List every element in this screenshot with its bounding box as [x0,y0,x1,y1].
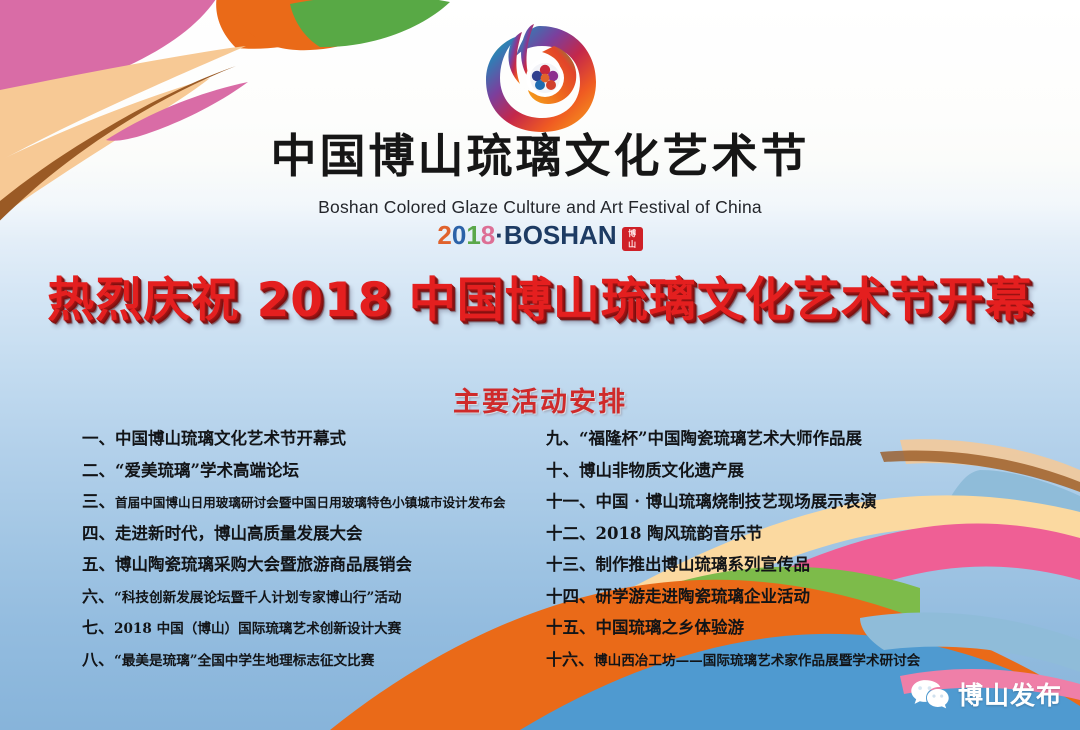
item-number: 十六、 [546,644,594,676]
list-item: 五、 博山陶瓷琉璃采购大会暨旅游商品展销会 [82,549,552,581]
item-number: 七、 [82,612,114,644]
list-item: 十三、 制作推出博山琉璃系列宣传品 [546,549,1046,581]
list-item: 九、 “福隆杯”中国陶瓷琉璃艺术大师作品展 [546,423,1046,455]
item-number: 十、 [546,455,579,487]
wechat-account-name: 博山发布 [958,676,1062,712]
item-text: 博山西冶工坊——国际琉璃艺术家作品展暨学术研讨会 [594,646,920,678]
list-item: 十二、 2018 陶风琉韵音乐节 [546,518,1046,550]
item-number: 九、 [546,423,579,455]
item-number: 十四、 [546,581,596,613]
city-label: ·BOSHAN [495,220,616,250]
item-text: 中国博山琉璃文化艺术节开幕式 [115,423,346,455]
item-number: 三、 [82,486,115,518]
program-subheading: 主要活动安排 [0,380,1080,419]
item-number: 六、 [82,581,114,613]
wechat-account-badge[interactable]: 博山发布 [910,676,1062,712]
list-item: 十一、 中国 · 博山琉璃烧制技艺现场展示表演 [546,486,1046,518]
festival-chinese-title: 中国博山琉璃文化艺术节 [0,133,1080,179]
program-list: 一、 中国博山琉璃文化艺术节开幕式 二、 “爱美琉璃”学术高端论坛 三、 首届中… [0,423,1080,673]
list-item: 十、 博山非物质文化遗产展 [546,455,1046,487]
item-text: 中国 · 博山琉璃烧制技艺现场展示表演 [596,486,877,518]
list-item: 十四、 研学游走进陶瓷琉璃企业活动 [546,581,1046,613]
item-text: 中国琉璃之乡体验游 [596,612,745,644]
festival-english-title: Boshan Colored Glaze Culture and Art Fes… [0,197,1080,218]
item-text: 首届中国博山日用玻璃研讨会暨中国日用玻璃特色小镇城市设计发布会 [115,487,505,519]
list-item: 十五、 中国琉璃之乡体验游 [546,612,1046,644]
festival-logo [476,18,604,136]
wechat-icon [910,678,950,710]
flame-swirl-icon [476,18,604,136]
year-digit-4: 8 [481,220,495,250]
item-number: 一、 [82,423,115,455]
year-digit-1: 2 [437,220,451,250]
item-number: 十一、 [546,486,596,518]
item-number: 八、 [82,644,114,676]
item-number: 十二、 [546,518,596,550]
item-text: 2018 陶风琉韵音乐节 [596,518,763,550]
seal-char-2: 山 [628,240,636,249]
list-item: 十六、 博山西冶工坊——国际琉璃艺术家作品展暨学术研讨会 [546,644,1046,676]
red-seal-icon: 博山 [622,227,643,251]
item-number: 二、 [82,455,115,487]
list-item: 七、 2018 中国（博山）国际琉璃艺术创新设计大赛 [82,612,552,644]
list-item: 二、 “爱美琉璃”学术高端论坛 [82,455,552,487]
item-text: 研学游走进陶瓷琉璃企业活动 [596,581,811,613]
celebration-headline: 热烈庆祝 2018 中国博山琉璃文化艺术节开幕 [0,277,1080,324]
festival-year-city: 2018·BOSHAN博山 [0,221,1080,251]
item-text: “科技创新发展论坛暨千人计划专家博山行”活动 [114,583,402,615]
item-text: 走进新时代，博山高质量发展大会 [115,518,363,550]
seal-char-1: 博 [628,229,636,238]
list-item: 三、 首届中国博山日用玻璃研讨会暨中国日用玻璃特色小镇城市设计发布会 [82,486,552,518]
item-number: 五、 [82,549,115,581]
list-item: 四、 走进新时代，博山高质量发展大会 [82,518,552,550]
item-text: 博山非物质文化遗产展 [579,455,744,487]
program-column-left: 一、 中国博山琉璃文化艺术节开幕式 二、 “爱美琉璃”学术高端论坛 三、 首届中… [82,423,552,675]
list-item: 六、 “科技创新发展论坛暨千人计划专家博山行”活动 [82,581,552,613]
poster-header: 中国博山琉璃文化艺术节 Boshan Colored Glaze Culture… [0,0,1080,265]
list-item: 一、 中国博山琉璃文化艺术节开幕式 [82,423,552,455]
item-number: 四、 [82,518,115,550]
item-text: “福隆杯”中国陶瓷琉璃艺术大师作品展 [579,423,862,455]
list-item: 八、 “最美是琉璃”全国中学生地理标志征文比赛 [82,644,552,676]
festival-poster: 中国博山琉璃文化艺术节 Boshan Colored Glaze Culture… [0,0,1080,730]
item-text: 博山陶瓷琉璃采购大会暨旅游商品展销会 [115,549,412,581]
item-number: 十三、 [546,549,596,581]
item-text: “爱美琉璃”学术高端论坛 [115,455,299,487]
year-digit-2: 0 [452,220,466,250]
item-text: 2018 中国（博山）国际琉璃艺术创新设计大赛 [114,614,401,646]
item-text: 制作推出博山琉璃系列宣传品 [596,549,811,581]
item-number: 十五、 [546,612,596,644]
item-text: “最美是琉璃”全国中学生地理标志征文比赛 [114,646,374,678]
year-digit-3: 1 [466,220,480,250]
program-column-right: 九、 “福隆杯”中国陶瓷琉璃艺术大师作品展 十、 博山非物质文化遗产展 十一、 … [546,423,1046,675]
